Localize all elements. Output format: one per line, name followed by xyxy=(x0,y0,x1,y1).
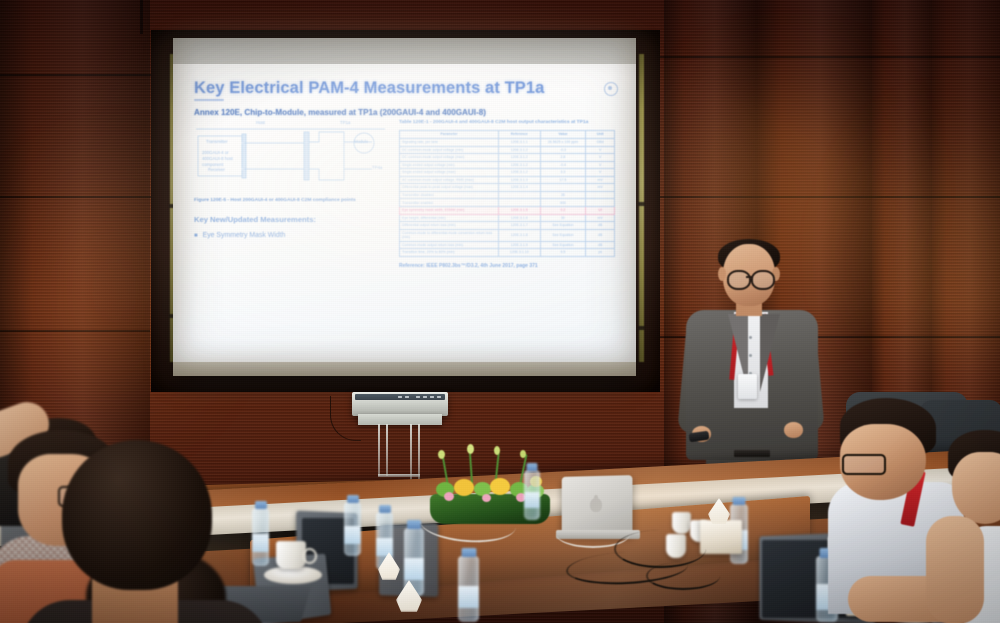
wall-mounted-av-control-unit[interactable] xyxy=(352,392,448,416)
eyeglasses-bridge-icon xyxy=(746,276,752,278)
table-row: Differential output return loss (min)120… xyxy=(400,222,615,230)
av-unit-bracket xyxy=(386,424,388,476)
cell-parameter: Differential output return loss (min) xyxy=(400,222,499,230)
cell-reference: 120E.3.1.6 xyxy=(498,214,540,222)
projected-slide: Key Electrical PAM-4 Measurements at TP1… xyxy=(173,64,636,362)
presenter-eyeglasses xyxy=(727,270,751,290)
cell-unit: V xyxy=(586,161,615,169)
figure-caption: Figure 120E-5 - Host 200GAUI-4 or 400GAU… xyxy=(194,198,387,204)
cell-value: See Equation xyxy=(540,222,586,230)
cell-unit: mV xyxy=(586,214,615,222)
table-reference-note: Reference: IEEE P802.3bs™/D3.2, 4th June… xyxy=(399,263,615,269)
water-bottle[interactable] xyxy=(458,556,479,622)
th-unit: Unit xyxy=(586,131,615,139)
cell-parameter: Eye symmetry mask width, ESMW (min) xyxy=(400,207,499,215)
cell-reference: 120E.3.1.2 xyxy=(498,154,540,162)
water-bottle[interactable] xyxy=(524,470,540,520)
bullet-dot-icon: ■ xyxy=(194,232,198,240)
attendee-eyeglasses xyxy=(842,454,886,475)
cell-parameter: Single-ended output voltage (min) xyxy=(400,161,499,169)
table-header-row: Parameter Reference Value Unit xyxy=(400,131,615,139)
cell-reference: 120E.3.1.9 xyxy=(498,241,540,249)
cable-run xyxy=(646,562,720,590)
table-row: Eye symmetry mask width, ESMW (min)120E.… xyxy=(400,207,615,215)
presenter-eyeglasses xyxy=(751,270,775,290)
bullet-item: ■ Eye Symmetry Mask Width xyxy=(194,232,387,240)
attendee-arm xyxy=(926,516,984,623)
cell-reference: 120E.3.1.1 xyxy=(498,138,540,146)
cell-value: 30 xyxy=(540,214,586,222)
cell-reference: 120E.3.1.2 xyxy=(498,161,540,169)
table-row: DC common-mode output voltage (max)120E.… xyxy=(400,154,615,162)
cell-unit: mV xyxy=(586,184,615,192)
av-unit-bracket xyxy=(418,424,420,480)
table-row: Eye height, differential (min)120E.3.1.6… xyxy=(400,214,615,222)
cell-reference xyxy=(498,199,540,207)
table-row: Signaling rate, per lane120E.3.1.126.562… xyxy=(400,138,615,146)
cell-unit: dB xyxy=(586,229,615,241)
cell-unit: UI xyxy=(586,207,615,215)
cell-value: See Equation xyxy=(540,241,586,249)
cell-unit: ps xyxy=(586,249,615,257)
presenter-ear xyxy=(718,267,726,281)
cell-reference: 120E.3.1.2 xyxy=(498,146,540,154)
cell-unit: V xyxy=(586,154,615,162)
presenter-name-badge xyxy=(738,374,757,399)
cell-reference: 120E.3.1.8 xyxy=(498,229,540,241)
cell-reference: 120E.3.1.5 xyxy=(498,207,540,215)
cell-parameter: DC common-mode output voltage (min) xyxy=(400,146,499,154)
water-bottle[interactable] xyxy=(252,508,269,566)
cell-reference: 120E.3.1.3 xyxy=(498,176,540,184)
th-value: Value xyxy=(540,131,586,139)
cell-value: 26.5625 ± 100 ppm xyxy=(540,138,586,146)
cell-parameter: Eye height, differential (min) xyxy=(400,214,499,222)
cell-parameter: Single-ended output voltage (max) xyxy=(400,169,499,177)
table-row: Single-ended output voltage (max)120E.3.… xyxy=(400,169,615,177)
cell-value: -0.3 xyxy=(540,146,586,154)
cell-parameter: Transmitter disabled xyxy=(400,191,499,199)
cell-parameter: DC common-mode output voltage (max) xyxy=(400,154,499,162)
slide-title: Key Electrical PAM-4 Measurements at TP1… xyxy=(194,80,615,97)
presenter-hand xyxy=(784,422,803,438)
table-row: Differential peak-to-peak output voltage… xyxy=(400,184,615,192)
section-heading: Key New/Updated Measurements: xyxy=(194,215,387,224)
cell-value: 900 xyxy=(540,199,586,207)
table-row: AC common-mode output voltage, RMS (max)… xyxy=(400,176,615,184)
attendee-head xyxy=(62,440,212,590)
presenter-belt xyxy=(734,450,770,457)
figure-label-component: 200GAUI-4 or 400GAUI-8 host component xyxy=(202,150,242,167)
recess-light-strip-right xyxy=(639,54,644,362)
water-bottle[interactable] xyxy=(344,502,361,556)
cell-unit xyxy=(586,199,615,207)
screen-dead-band-bottom xyxy=(173,362,636,376)
cell-unit: GBd xyxy=(586,138,615,146)
av-unit-bracket xyxy=(378,424,380,476)
table-row: Common-mode to differential-mode convers… xyxy=(400,229,615,241)
cell-value: 3.3 xyxy=(540,169,586,177)
table-row: Single-ended output voltage (min)120E.3.… xyxy=(400,161,615,169)
figure-label-tp4a: TP4a xyxy=(372,165,382,170)
table-row: Transition time, 20% to 80% (min)120E.3.… xyxy=(400,249,615,257)
cell-value xyxy=(540,184,586,192)
presenter-lapel xyxy=(760,314,780,392)
figure-label-transmitter: Transmitter xyxy=(206,139,228,144)
conference-room-photo: Key Electrical PAM-4 Measurements at TP1… xyxy=(0,0,1000,623)
figure-label-module: Module xyxy=(354,139,368,144)
cell-parameter: Transmitter enabled xyxy=(400,199,499,207)
screen-dead-band-top xyxy=(173,38,636,64)
cell-value: 35 xyxy=(540,191,586,199)
tissue-box[interactable] xyxy=(700,520,742,554)
table-row: DC common-mode output voltage (min)120E.… xyxy=(400,146,615,154)
table-row: Transmitter disabled35 xyxy=(400,191,615,199)
cell-reference: 120E.3.1.10 xyxy=(498,249,540,257)
cell-reference: 120E.3.1.7 xyxy=(498,222,540,230)
th-reference: Reference xyxy=(498,131,540,139)
cell-parameter: Common-mode output return loss (min) xyxy=(400,241,499,249)
cell-value: 2.8 xyxy=(540,154,586,162)
table-caption: Table 120E-1 - 200GAUI-4 and 400GAUI-8 C… xyxy=(399,120,615,126)
cup-handle xyxy=(302,548,317,564)
attendee-far-right xyxy=(930,430,1000,623)
attendee-face xyxy=(952,452,1000,524)
cell-parameter: Differential peak-to-peak output voltage… xyxy=(400,184,499,192)
cell-unit: V xyxy=(586,169,615,177)
apple-logo-icon xyxy=(590,498,602,512)
cell-value: 17.5 xyxy=(540,176,586,184)
cell-parameter: Signaling rate, per lane xyxy=(400,138,499,146)
av-unit-bracket xyxy=(378,474,420,477)
table-row: Common-mode output return loss (min)120E… xyxy=(400,241,615,249)
company-roundel-logo-icon xyxy=(604,82,618,96)
cell-value: 0.2 xyxy=(540,207,586,215)
cell-unit: mV xyxy=(586,176,615,184)
cell-value: 9.5 xyxy=(540,249,586,257)
cell-parameter: AC common-mode output voltage, RMS (max) xyxy=(400,176,499,184)
cell-parameter: Common-mode to differential-mode convers… xyxy=(400,229,499,241)
cell-unit xyxy=(586,191,615,199)
av-unit-mount xyxy=(358,414,442,425)
th-parameter: Parameter xyxy=(400,131,499,139)
projection-screen: Key Electrical PAM-4 Measurements at TP1… xyxy=(173,38,636,376)
cell-unit: dB xyxy=(586,222,615,230)
av-unit-bracket xyxy=(410,424,412,480)
cell-value: See Equation xyxy=(540,229,586,241)
compliance-point-figure: Host TP1a xyxy=(194,120,387,194)
cell-reference: 120E.3.1.4 xyxy=(498,184,540,192)
cell-parameter: Transition time, 20% to 80% (min) xyxy=(400,249,499,257)
title-underline xyxy=(194,99,224,101)
bullet-text: Eye Symmetry Mask Width xyxy=(203,232,286,239)
cell-value: -0.4 xyxy=(540,161,586,169)
cell-unit: dB xyxy=(586,241,615,249)
slide-subtitle: Annex 120E, Chip-to-Module, measured at … xyxy=(194,108,615,117)
figure-label-receiver: Receiver xyxy=(208,167,225,172)
cell-unit: V xyxy=(586,146,615,154)
spec-table: Parameter Reference Value Unit Signaling… xyxy=(399,130,615,256)
table-row: Transmitter enabled900 xyxy=(400,199,615,207)
attendee-left-front xyxy=(62,440,242,623)
cell-reference: 120E.3.1.2 xyxy=(498,169,540,177)
cell-reference xyxy=(498,191,540,199)
